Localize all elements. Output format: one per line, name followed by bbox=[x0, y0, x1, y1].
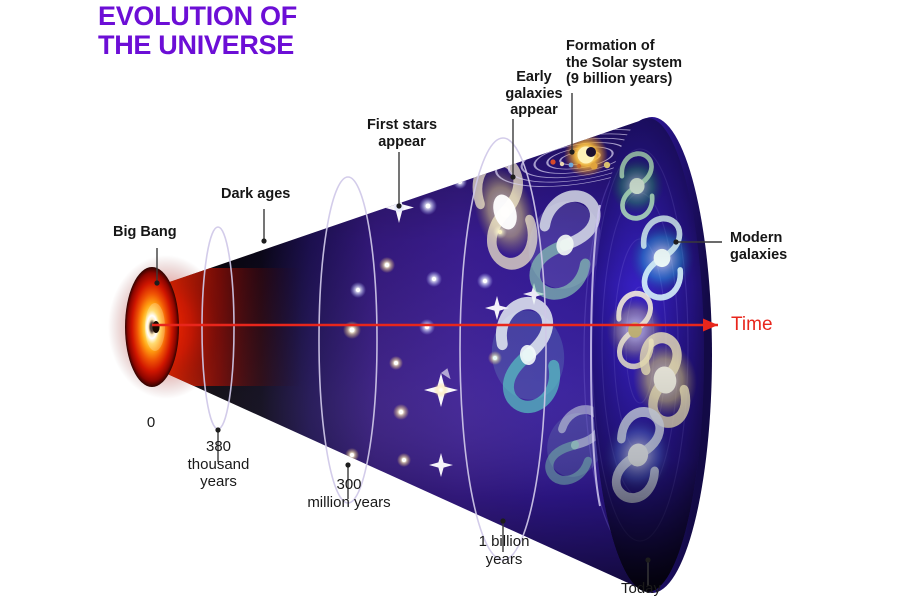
label-first-stars: First stars appear bbox=[352, 117, 452, 150]
timeline-label-380k: 380 thousand years bbox=[166, 438, 271, 491]
timeline-label-1b: 1 billion years bbox=[444, 533, 564, 568]
page-title: EVOLUTION OF THE UNIVERSE bbox=[98, 2, 428, 60]
time-axis-label: Time bbox=[731, 314, 773, 336]
modern-universe-disc bbox=[591, 117, 712, 593]
big-bang-fireball bbox=[108, 255, 224, 399]
timeline-label-300m: 300 million years bbox=[279, 476, 419, 511]
universe-cone-illustration bbox=[0, 0, 900, 600]
diagram-canvas: EVOLUTION OF THE UNIVERSE Big Bang Dark … bbox=[0, 0, 900, 600]
label-modern-galaxies: Modern galaxies bbox=[730, 230, 860, 263]
timeline-label-zero: 0 bbox=[131, 414, 171, 432]
label-big-bang: Big Bang bbox=[113, 224, 177, 241]
timeline-label-today: Today bbox=[596, 580, 686, 598]
label-dark-ages: Dark ages bbox=[221, 186, 290, 203]
label-solar-system: Formation of the Solar system (9 billion… bbox=[566, 38, 716, 88]
sun-shadow-dot bbox=[586, 147, 596, 157]
